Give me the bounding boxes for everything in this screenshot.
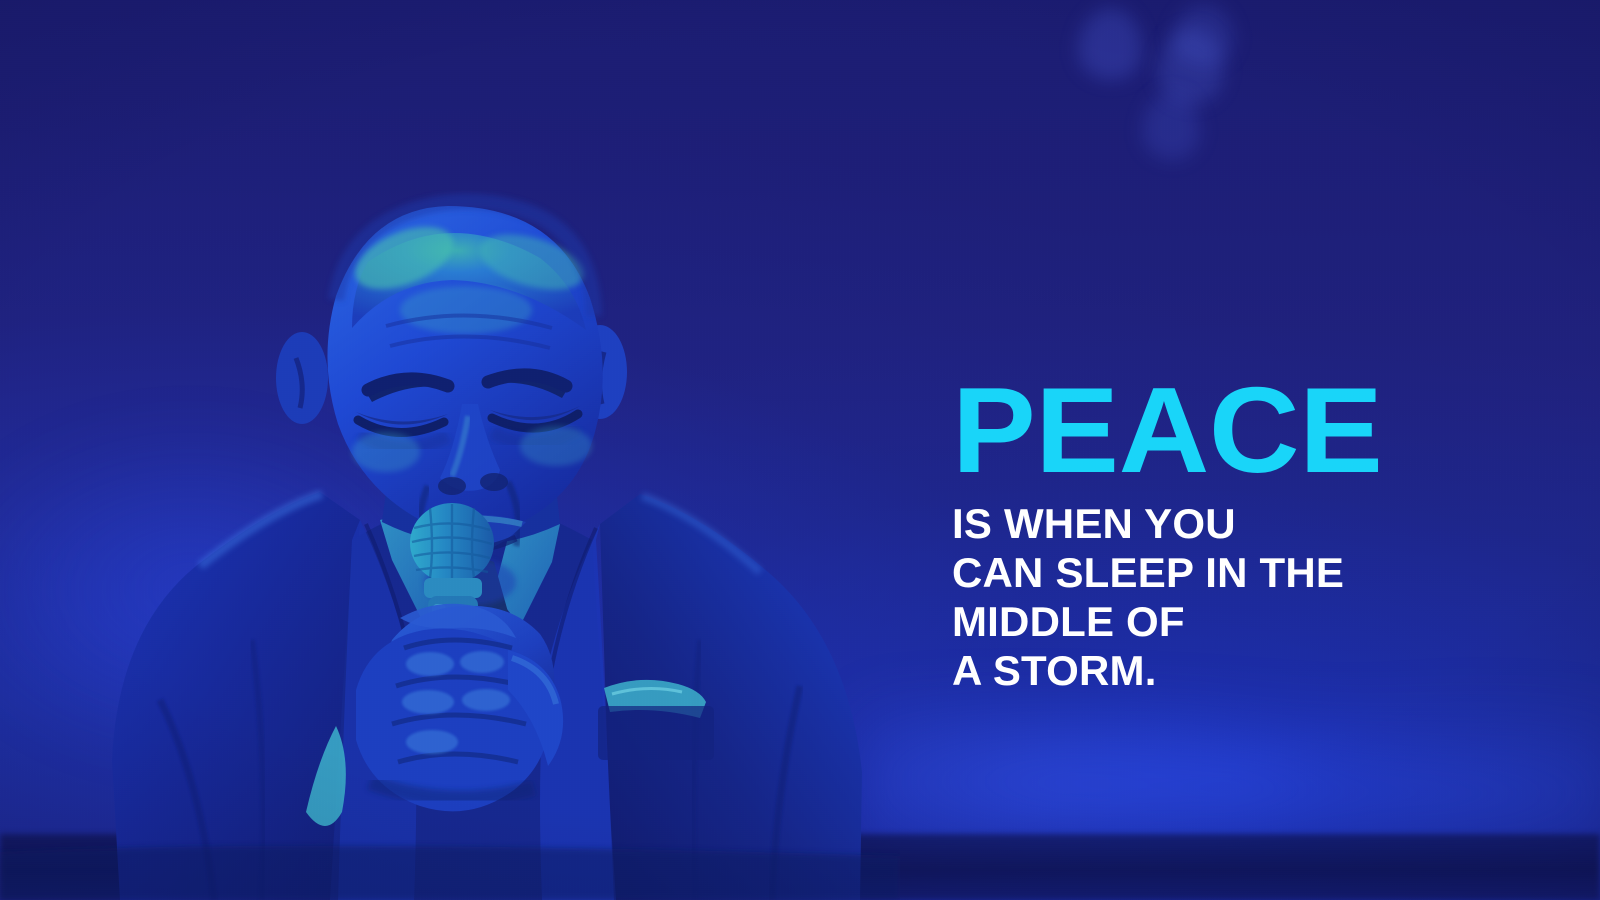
- quote-block: PEACE IS WHEN YOU CAN SLEEP IN THE MIDDL…: [952, 378, 1512, 695]
- poster-canvas: PEACE IS WHEN YOU CAN SLEEP IN THE MIDDL…: [0, 0, 1600, 900]
- subheading-line-4: A STORM.: [952, 646, 1512, 695]
- background-blur-blob: [1142, 92, 1200, 160]
- speaker-portrait: [0, 0, 900, 900]
- subheading-line-2: CAN SLEEP IN THE: [952, 548, 1512, 597]
- background-blur-blob: [1078, 8, 1142, 80]
- headline-peace: PEACE: [952, 378, 1529, 483]
- subheading: IS WHEN YOU CAN SLEEP IN THE MIDDLE OF A…: [952, 499, 1512, 695]
- subheading-line-3: MIDDLE OF: [952, 597, 1512, 646]
- subheading-line-1: IS WHEN YOU: [952, 499, 1512, 548]
- lectern-top: [0, 846, 900, 900]
